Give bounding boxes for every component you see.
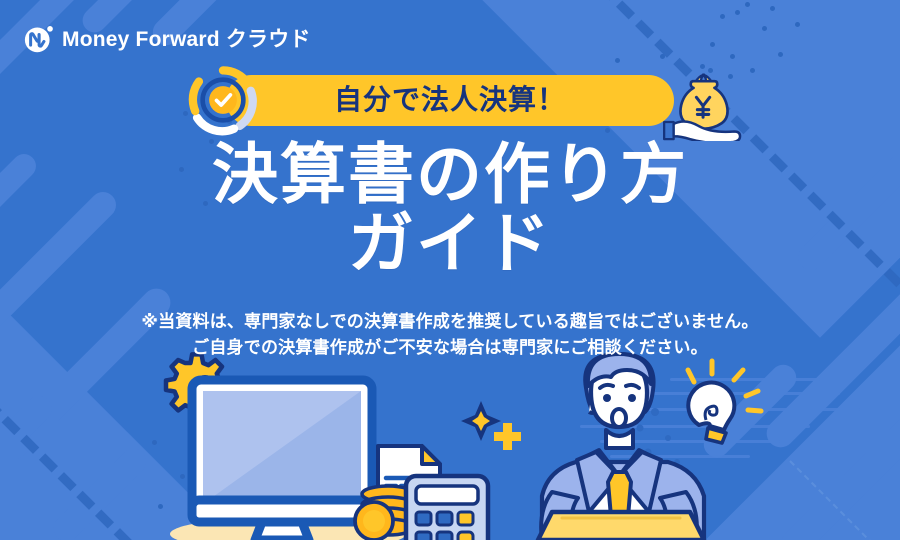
stripe-bar — [48, 443, 151, 540]
badge-label: 自分で法人決算！ — [334, 86, 566, 114]
plus-sparkle-icon — [494, 423, 521, 450]
document-icon — [378, 446, 440, 526]
sparkle-icon — [461, 401, 501, 441]
money-bag-hand-icon — [656, 67, 752, 141]
speed-line — [600, 408, 860, 411]
speed-line — [580, 425, 810, 428]
fine-dashed-line — [789, 460, 900, 540]
calculator-icon — [406, 476, 488, 540]
stripe-bar — [0, 391, 57, 515]
disclaimer-note: ※当資料は、専門家なしでの決算書作成を推奨している趣旨ではございません。 ご自身… — [0, 309, 900, 360]
diagonal-wedge-bottom-left — [0, 235, 255, 540]
dot-accent-group — [637, 408, 681, 465]
dot-pattern-bottom-left — [150, 430, 220, 520]
speed-line — [670, 378, 820, 381]
page-title: 決算書の作り方 ガイド — [0, 140, 900, 277]
businessman-icon — [538, 354, 704, 540]
badge-bar: 自分で法人決算！ — [226, 75, 674, 126]
monitor-icon — [192, 380, 372, 540]
page-title-line1: 決算書の作り方 — [0, 140, 900, 209]
money-forward-logo-mark — [24, 24, 54, 54]
dashed-diagonal-line — [0, 341, 301, 540]
hero-banner: Money Forward クラウド 自分で法人決算！ — [0, 0, 900, 540]
speed-line — [630, 392, 840, 395]
brand-logo[interactable]: Money Forward クラウド — [24, 24, 311, 54]
page-title-line2: ガイド — [0, 209, 900, 278]
lightbulb-icon — [688, 361, 761, 443]
coin-stack-icon — [355, 486, 414, 540]
stripe-bar — [775, 374, 900, 540]
brand-logo-text: Money Forward クラウド — [62, 29, 311, 50]
monitor-shadow — [170, 517, 406, 540]
disclaimer-line1: ※当資料は、専門家なしでの決算書作成を推奨している趣旨ではございません。 — [0, 309, 900, 335]
badge-row: 自分で法人決算！ — [0, 67, 900, 133]
speed-line — [610, 455, 750, 458]
check-circle-icon — [186, 63, 260, 137]
stripe-bar — [698, 359, 801, 462]
gear-icon — [166, 354, 228, 416]
speed-line — [600, 440, 780, 443]
disclaimer-line2: ご自身での決算書作成がご不安な場合は専門家にご相談ください。 — [0, 335, 900, 361]
